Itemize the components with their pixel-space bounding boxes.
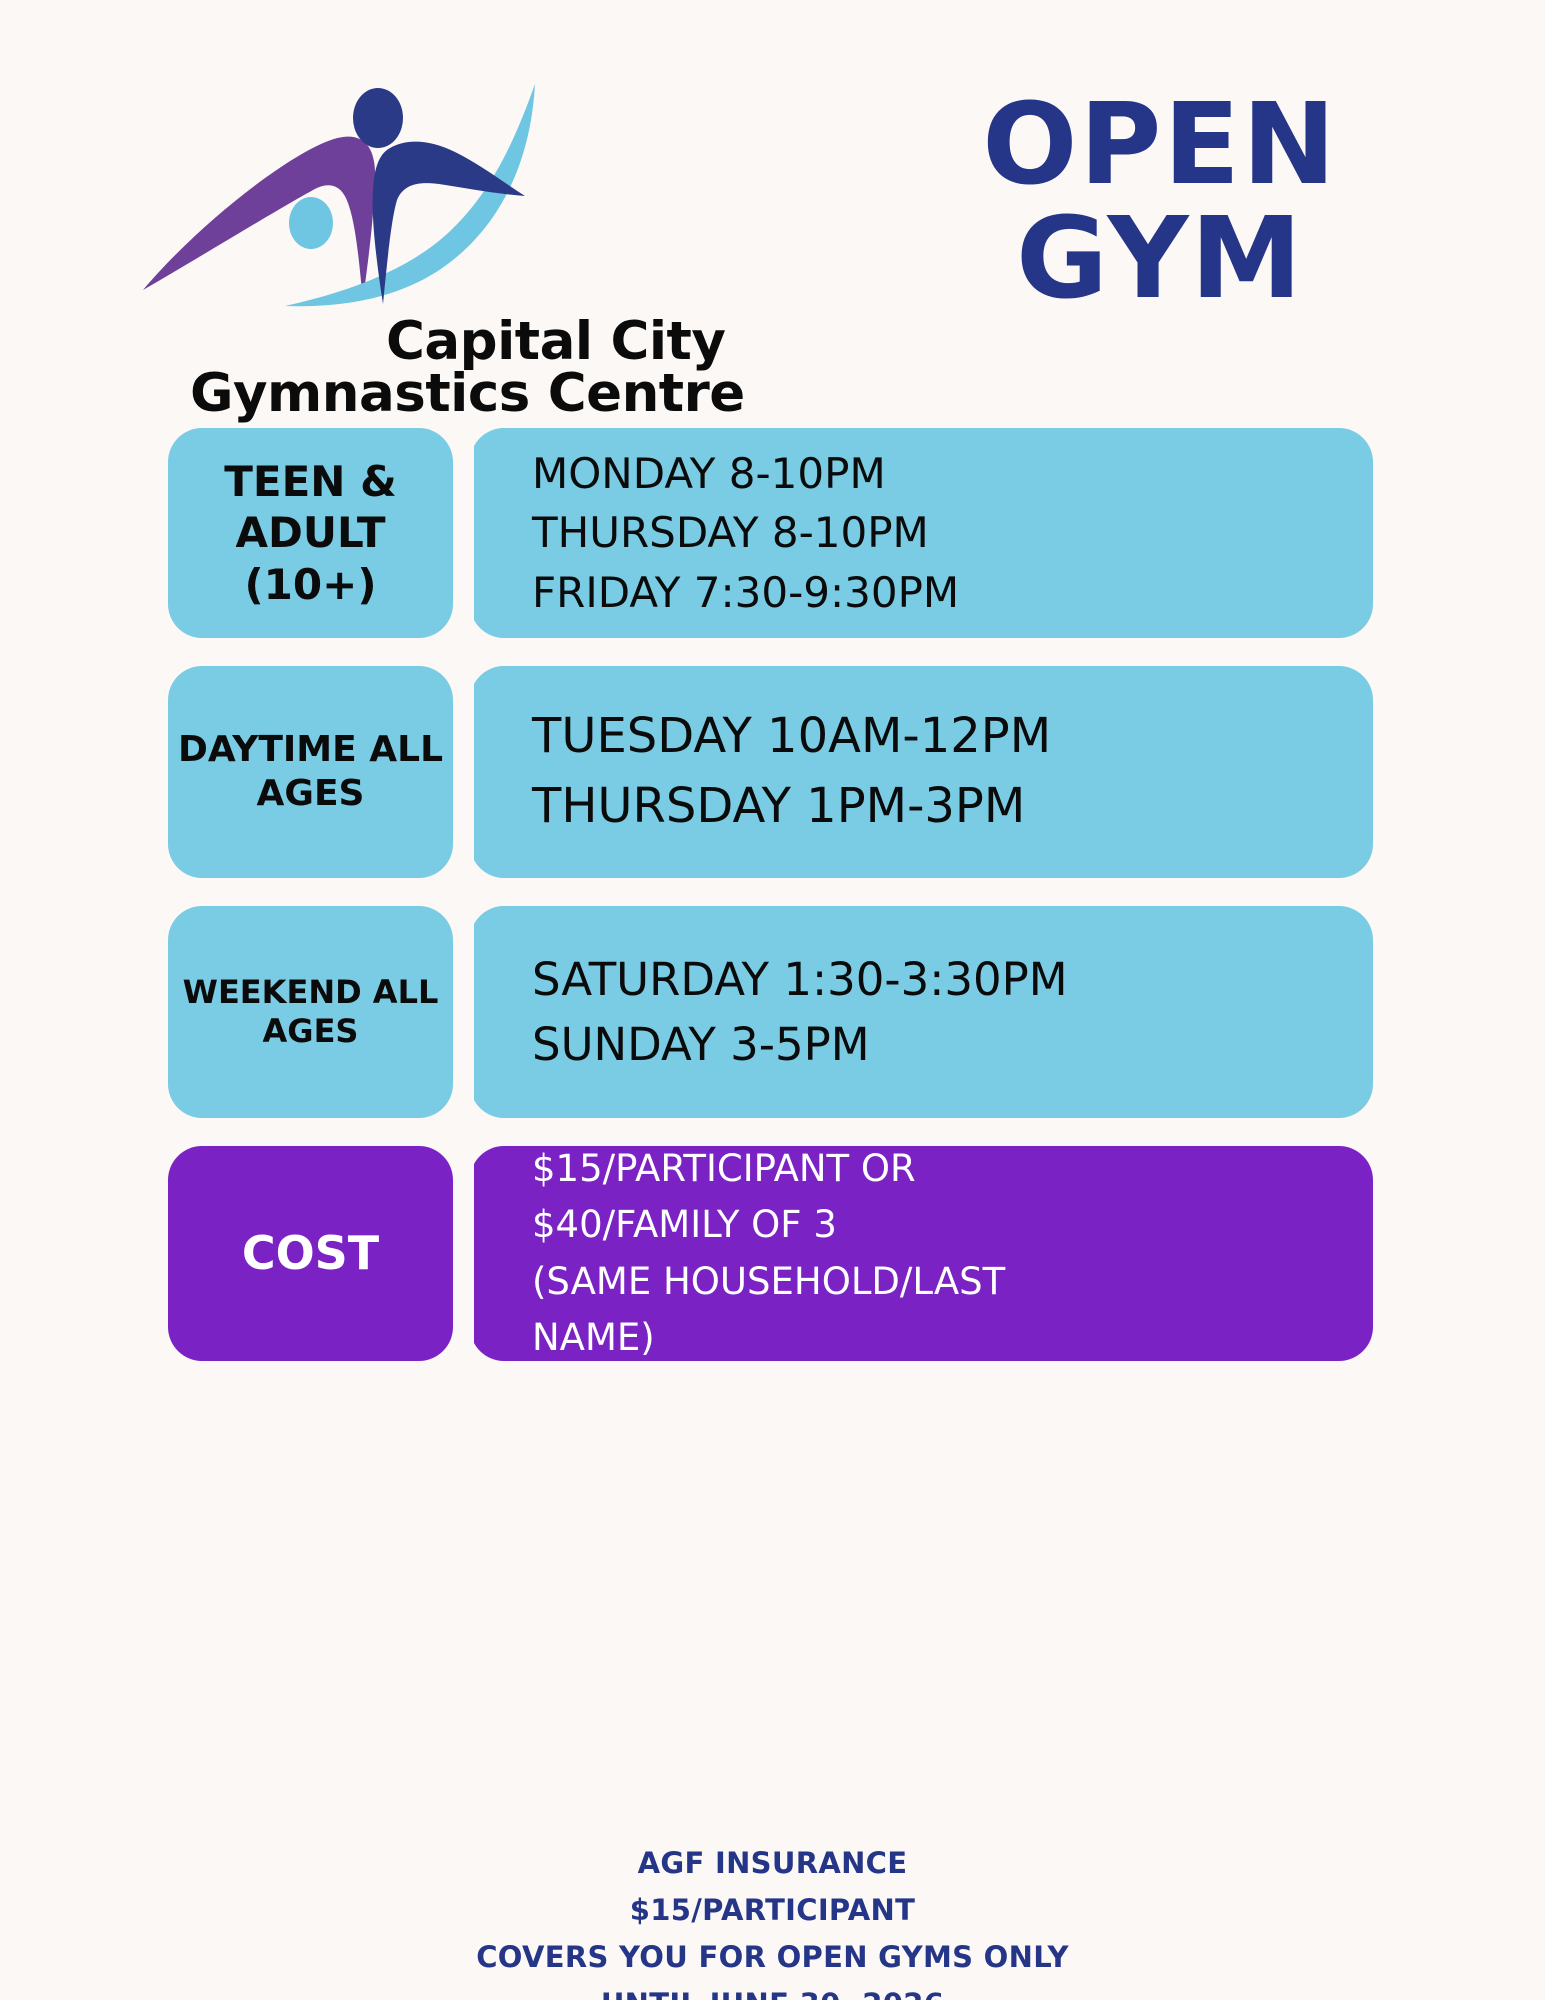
footer-line: COVERS YOU FOR OPEN GYMS ONLY bbox=[0, 1934, 1545, 1981]
logo-line-1: Capital City bbox=[190, 316, 750, 368]
footer-notes: AGF INSURANCE $15/PARTICIPANT COVERS YOU… bbox=[0, 1840, 1545, 2000]
cost-line: $40/FAMILY OF 3 bbox=[532, 1197, 1373, 1253]
row-label-line: DAYTIME bbox=[178, 729, 357, 770]
schedule-table: TEEN & ADULT (10+) MONDAY 8-10PM THURSDA… bbox=[168, 428, 1373, 1389]
logo-wordmark: Capital City Gymnastics Centre bbox=[190, 316, 750, 421]
row-label-line: ALL bbox=[369, 729, 443, 770]
row-label-line: AGES bbox=[263, 1012, 359, 1050]
row-label-teen-adult: TEEN & ADULT (10+) bbox=[168, 428, 453, 638]
column-divider bbox=[463, 418, 474, 1723]
schedule-line: SUNDAY 3-5PM bbox=[532, 1012, 1373, 1077]
row-label-line: COST bbox=[242, 1226, 379, 1280]
schedule-line: TUESDAY 10AM-12PM bbox=[532, 702, 1373, 772]
row-label-weekend-all-ages: WEEKEND ALL AGES bbox=[168, 906, 453, 1118]
row-label-line: (10+) bbox=[244, 560, 376, 609]
row-label-line: TEEN & bbox=[224, 457, 396, 506]
logo-block: Capital City Gymnastics Centre bbox=[135, 78, 755, 368]
row-label-daytime-all-ages: DAYTIME ALL AGES bbox=[168, 666, 453, 878]
row-detail-teen-adult: MONDAY 8-10PM THURSDAY 8-10PM FRIDAY 7:3… bbox=[470, 428, 1373, 638]
row-detail-weekend-all-ages: SATURDAY 1:30-3:30PM SUNDAY 3-5PM bbox=[470, 906, 1373, 1118]
cost-line: $15/PARTICIPANT OR bbox=[532, 1141, 1373, 1197]
schedule-line: FRIDAY 7:30-9:30PM bbox=[532, 563, 1373, 623]
footer-line: UNTIL JUNE 30, 2026 bbox=[0, 1981, 1545, 2000]
logo-line-2: Gymnastics Centre bbox=[190, 368, 750, 420]
schedule-line: SATURDAY 1:30-3:30PM bbox=[532, 947, 1373, 1012]
schedule-line: THURSDAY 1PM-3PM bbox=[532, 772, 1373, 842]
title-line-open: OPEN bbox=[925, 88, 1395, 202]
row-label-line: WEEKEND bbox=[183, 973, 362, 1011]
table-row: TEEN & ADULT (10+) MONDAY 8-10PM THURSDA… bbox=[168, 428, 1373, 638]
table-row: DAYTIME ALL AGES TUESDAY 10AM-12PM THURS… bbox=[168, 666, 1373, 878]
cost-line: NAME) bbox=[532, 1310, 1373, 1366]
table-row: COST $15/PARTICIPANT OR $40/FAMILY OF 3 … bbox=[168, 1146, 1373, 1361]
schedule-line: THURSDAY 8-10PM bbox=[532, 503, 1373, 563]
row-label-line: AGES bbox=[257, 773, 365, 814]
row-label-line: ALL bbox=[373, 973, 439, 1011]
row-detail-cost: $15/PARTICIPANT OR $40/FAMILY OF 3 (SAME… bbox=[470, 1146, 1373, 1361]
row-label-line: ADULT bbox=[236, 508, 386, 557]
title-line-gym: GYM bbox=[925, 202, 1395, 316]
footer-line: AGF INSURANCE bbox=[0, 1840, 1545, 1887]
open-gym-poster: Capital City Gymnastics Centre OPEN GYM … bbox=[0, 0, 1545, 2000]
gymnast-figures-logo-icon bbox=[135, 78, 565, 308]
page-title: OPEN GYM bbox=[925, 88, 1395, 316]
table-row: WEEKEND ALL AGES SATURDAY 1:30-3:30PM SU… bbox=[168, 906, 1373, 1118]
poster-header: Capital City Gymnastics Centre OPEN GYM bbox=[0, 78, 1545, 378]
footer-line: $15/PARTICIPANT bbox=[0, 1887, 1545, 1934]
row-label-cost: COST bbox=[168, 1146, 453, 1361]
cost-line: (SAME HOUSEHOLD/LAST bbox=[532, 1254, 1373, 1310]
row-detail-daytime-all-ages: TUESDAY 10AM-12PM THURSDAY 1PM-3PM bbox=[470, 666, 1373, 878]
schedule-line: MONDAY 8-10PM bbox=[532, 444, 1373, 504]
